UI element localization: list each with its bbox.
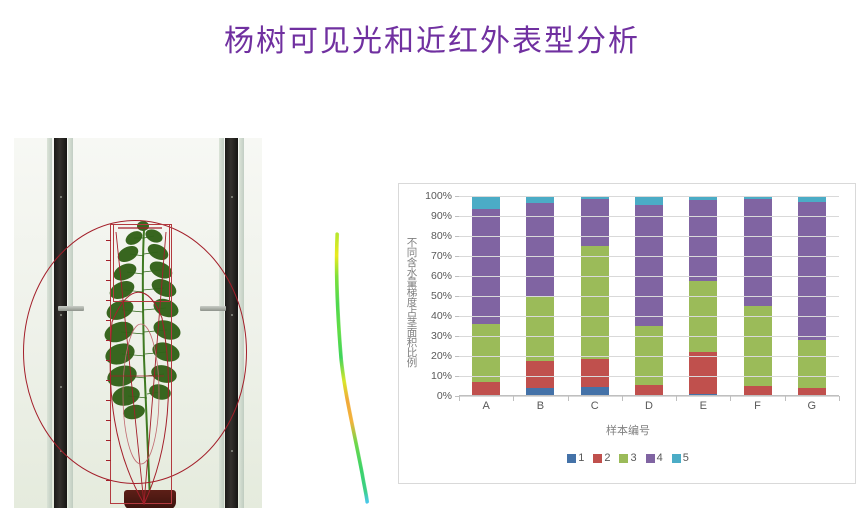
legend-label: 4 — [657, 452, 663, 464]
chart-x-tick-label: G — [798, 400, 826, 412]
chart-y-tick-mark — [455, 256, 459, 257]
chart-segment-series-3[interactable] — [581, 246, 609, 359]
chart-y-tick-label: 90% — [431, 210, 452, 222]
poplar-visible-light-photo — [14, 138, 262, 508]
chart-y-tick-label: 20% — [431, 350, 452, 362]
chart-gridline — [459, 396, 839, 397]
legend-item-3[interactable]: 3 — [619, 452, 636, 464]
chart-y-tick-mark — [455, 276, 459, 277]
stacked-bar-chart: 不同含水量梯度占茎面积比例 0%10%20%30%40%50%60%70%80%… — [398, 183, 856, 484]
chart-segment-series-2[interactable] — [472, 382, 500, 396]
chart-gridline — [459, 236, 839, 237]
chart-y-tick-mark — [455, 296, 459, 297]
legend-item-1[interactable]: 1 — [567, 452, 584, 464]
annotation-scale-tick — [106, 340, 111, 341]
chart-y-tick-label: 10% — [431, 370, 452, 382]
chart-y-tick-label: 70% — [431, 250, 452, 262]
chart-gridline — [459, 276, 839, 277]
annotation-scale-tick — [106, 260, 111, 261]
chart-segment-series-4[interactable] — [689, 200, 717, 281]
chart-x-tick-label: D — [635, 400, 663, 412]
chart-segment-series-5[interactable] — [526, 196, 554, 203]
annotation-scale-tick — [106, 460, 111, 461]
legend-swatch-1 — [567, 454, 576, 463]
chart-y-tick-mark — [455, 316, 459, 317]
chart-y-axis-title: 不同含水量梯度占茎面积比例 — [403, 194, 421, 409]
legend-item-2[interactable]: 2 — [593, 452, 610, 464]
skeleton-path — [336, 234, 367, 502]
legend-label: 2 — [604, 452, 610, 464]
chart-segment-series-3[interactable] — [798, 340, 826, 388]
chart-segment-series-5[interactable] — [472, 196, 500, 209]
chart-gridline — [459, 196, 839, 197]
chart-y-tick-mark — [455, 336, 459, 337]
legend-swatch-4 — [646, 454, 655, 463]
chart-y-tick-label: 80% — [431, 230, 452, 242]
chart-y-tick-mark — [455, 356, 459, 357]
legend-swatch-5 — [672, 454, 681, 463]
chart-segment-series-4[interactable] — [798, 202, 826, 340]
chart-y-tick-label: 100% — [425, 190, 452, 202]
annotation-scale-tick — [106, 280, 111, 281]
annotation-scale-tick — [106, 320, 111, 321]
chart-segment-series-3[interactable] — [526, 297, 554, 361]
annotation-scale-tick — [106, 380, 111, 381]
chart-segment-series-2[interactable] — [526, 361, 554, 388]
chart-y-tick-label: 30% — [431, 330, 452, 342]
chart-segment-series-2[interactable] — [581, 359, 609, 387]
chart-y-tick-mark — [455, 216, 459, 217]
chart-y-tick-labels: 0%10%20%30%40%50%60%70%80%90%100% — [421, 196, 455, 396]
chart-x-tick-label: E — [689, 400, 717, 412]
chart-gridline — [459, 336, 839, 337]
chart-y-tick-label: 60% — [431, 270, 452, 282]
chart-segment-series-4[interactable] — [526, 203, 554, 297]
annotation-scale-tick — [106, 360, 111, 361]
legend-label: 5 — [683, 452, 689, 464]
annotation-scale-tick — [106, 400, 111, 401]
chart-legend: 12345 — [399, 452, 857, 464]
annotation-polygon — [104, 222, 176, 506]
chart-segment-series-2[interactable] — [689, 352, 717, 394]
page-title: 杨树可见光和近红外表型分析 — [0, 16, 864, 60]
chart-gridline — [459, 216, 839, 217]
chart-x-tick-label: C — [581, 400, 609, 412]
annotation-scale-tick — [106, 240, 111, 241]
chart-gridline — [459, 296, 839, 297]
stem-moisture-skeleton — [320, 228, 386, 508]
chart-gridline — [459, 316, 839, 317]
annotation-scale-tick — [106, 440, 111, 441]
chart-y-tick-label: 40% — [431, 310, 452, 322]
chart-segment-series-4[interactable] — [472, 209, 500, 324]
chart-segment-series-4[interactable] — [635, 205, 663, 326]
legend-swatch-2 — [593, 454, 602, 463]
chart-gridline — [459, 376, 839, 377]
legend-label: 1 — [578, 452, 584, 464]
chart-y-tick-mark — [455, 376, 459, 377]
annotation-scale-tick — [106, 420, 111, 421]
chart-segment-series-3[interactable] — [472, 324, 500, 382]
chart-x-tick-label: F — [744, 400, 772, 412]
chart-segment-series-4[interactable] — [581, 199, 609, 246]
legend-item-5[interactable]: 5 — [672, 452, 689, 464]
chart-x-axis-title: 样本编号 — [399, 422, 857, 438]
chart-plot-area — [459, 196, 839, 396]
chart-segment-series-3[interactable] — [744, 306, 772, 386]
chart-y-tick-mark — [455, 236, 459, 237]
chart-segment-series-5[interactable] — [635, 196, 663, 205]
chart-x-tick-label: B — [526, 400, 554, 412]
chart-gridline — [459, 356, 839, 357]
chart-x-separator — [839, 396, 840, 401]
chart-x-tick-labels: ABCDEFG — [459, 400, 839, 412]
legend-label: 3 — [630, 452, 636, 464]
legend-swatch-3 — [619, 454, 628, 463]
chart-x-tick-label: A — [472, 400, 500, 412]
chart-y-tick-label: 0% — [437, 390, 452, 402]
legend-item-4[interactable]: 4 — [646, 452, 663, 464]
annotation-scale-tick — [106, 480, 111, 481]
chart-y-tick-mark — [455, 196, 459, 197]
chart-plot-wrapper: 0%10%20%30%40%50%60%70%80%90%100% ABCDEF… — [421, 196, 849, 408]
annotation-scale-tick — [106, 300, 111, 301]
chart-y-tick-label: 50% — [431, 290, 452, 302]
chart-gridline — [459, 256, 839, 257]
